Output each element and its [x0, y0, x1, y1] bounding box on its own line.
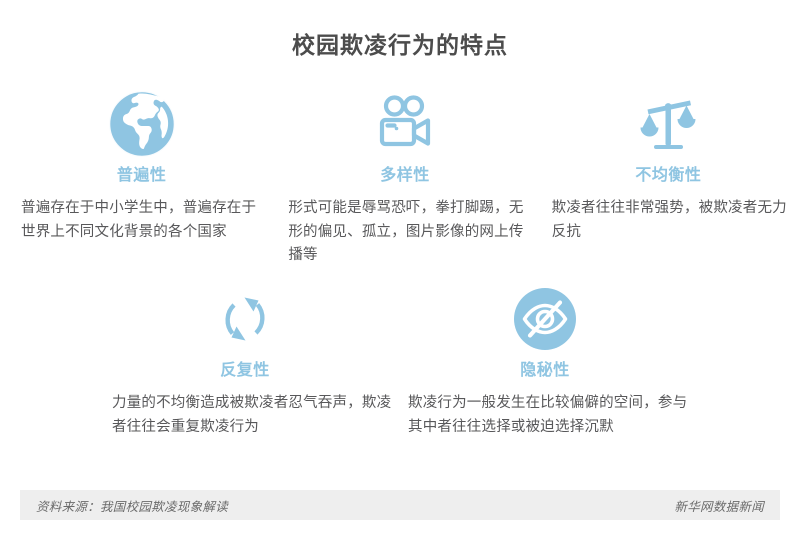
card-imbalance: 不均衡性 欺凌者往往非常强势，被欺凌者无力反抗	[537, 88, 800, 268]
card-universality: 普遍性 普遍存在于中小学生中，普遍存在于世界上不同文化背景的各个国家	[10, 88, 273, 268]
card-heading: 隐秘性	[520, 361, 570, 380]
eye-slash-icon	[512, 283, 578, 355]
globe-icon	[107, 88, 177, 160]
cards-row-top: 普遍性 普遍存在于中小学生中，普遍存在于世界上不同文化背景的各个国家 多样性	[10, 88, 800, 268]
footer-source: 资料来源：我国校园欺凌现象解读	[36, 496, 228, 515]
footer-publisher: 新华网数据新闻	[674, 496, 764, 515]
card-heading: 反复性	[220, 361, 270, 380]
card-heading: 普遍性	[117, 166, 167, 185]
infographic-canvas: 校园欺凌行为的特点 普遍性 普遍存在于中小学生中，普遍存在于世界上不同文化背景的…	[0, 0, 800, 548]
card-repetition: 反复性 力量的不均衡造成被欺凌者忍气吞声，欺凌者往往会重复欺凌行为	[95, 283, 395, 439]
repeat-cycle-icon	[213, 283, 277, 355]
card-secrecy: 隐秘性 欺凌行为一般发生在比较偏僻的空间，参与其中者往往选择或被迫选择沉默	[395, 283, 695, 439]
page-title: 校园欺凌行为的特点	[0, 32, 800, 60]
card-body: 欺凌者往往非常强势，被欺凌者无力反抗	[538, 197, 799, 244]
card-heading: 多样性	[380, 166, 430, 185]
card-body: 力量的不均衡造成被欺凌者忍气吞声，欺凌者往往会重复欺凌行为	[94, 392, 396, 439]
cards-row-bottom: 反复性 力量的不均衡造成被欺凌者忍气吞声，欺凌者往往会重复欺凌行为 隐秘性 欺凌…	[95, 283, 715, 439]
video-camera-icon	[371, 88, 439, 160]
balance-scale-icon	[634, 88, 702, 160]
card-diversity: 多样性 形式可能是辱骂恐吓，拳打脚踢，无形的偏见、孤立，图片影像的网上传播等	[273, 88, 536, 268]
card-body: 形式可能是辱骂恐吓，拳打脚踢，无形的偏见、孤立，图片影像的网上传播等	[274, 197, 535, 267]
footer-bar: 资料来源：我国校园欺凌现象解读 新华网数据新闻	[20, 490, 780, 520]
card-body: 普遍存在于中小学生中，普遍存在于世界上不同文化背景的各个国家	[15, 197, 268, 244]
card-body: 欺凌行为一般发生在比较偏僻的空间，参与其中者往往选择或被迫选择沉默	[398, 392, 692, 439]
card-heading: 不均衡性	[635, 166, 701, 185]
